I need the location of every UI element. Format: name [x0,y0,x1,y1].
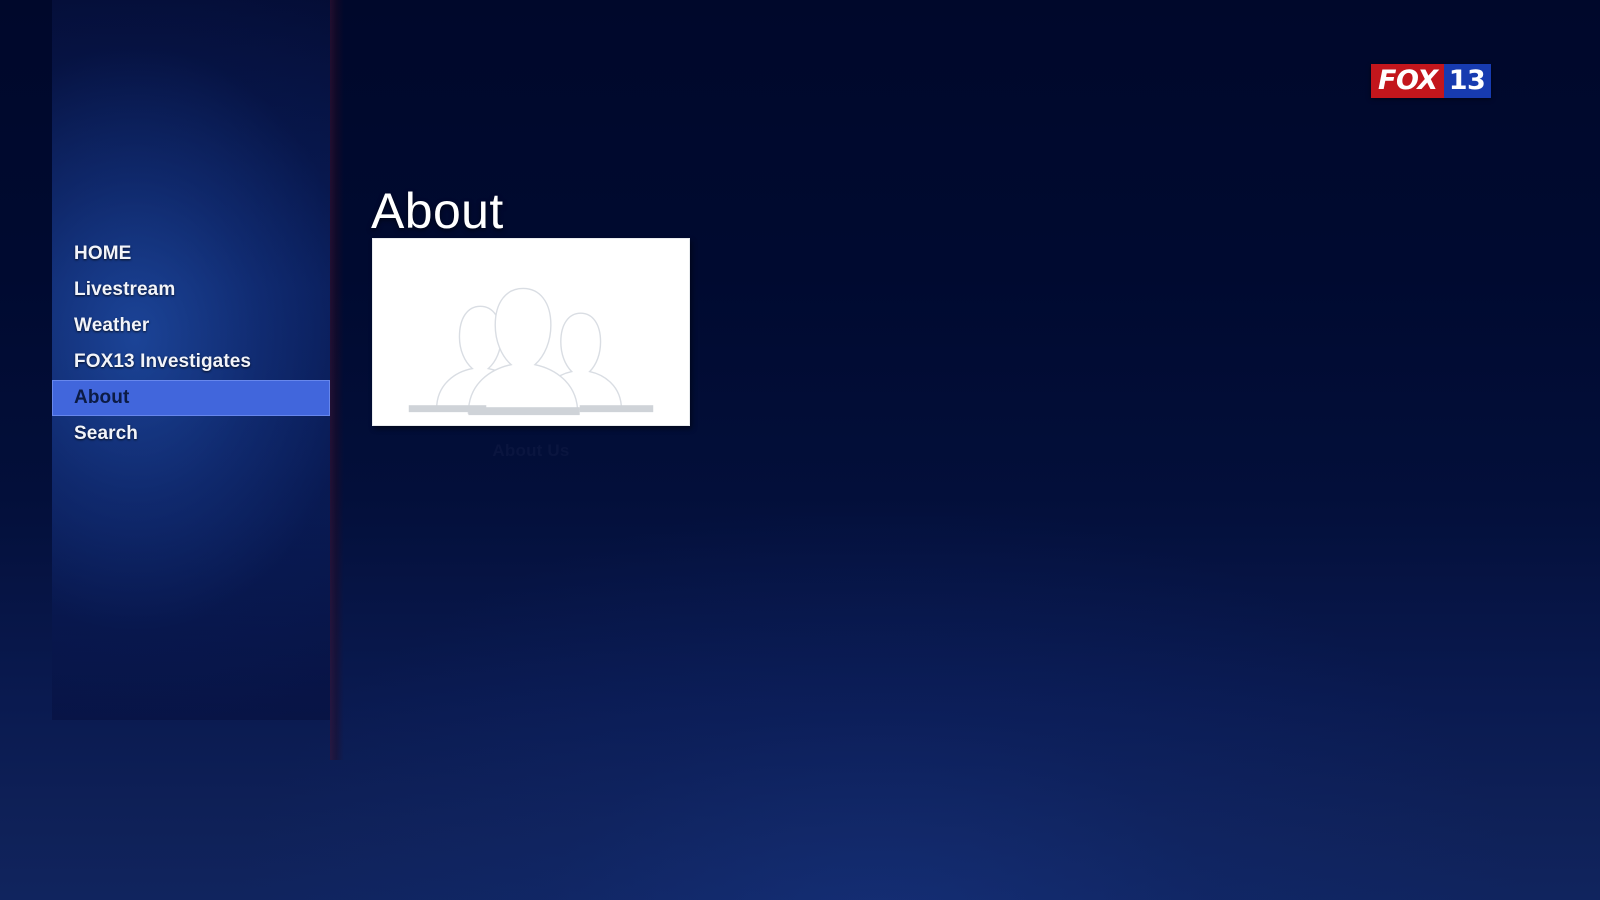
sidebar-item-label: Search [74,423,138,444]
fox13-logo: FOX 13 [1371,64,1491,98]
sidebar-item-label: About [74,387,129,408]
sidebar-item-fox13-investigates[interactable]: FOX13 Investigates [52,344,330,380]
sidebar-item-home[interactable]: HOME [52,236,330,272]
people-silhouette-icon [373,239,689,425]
sidebar-item-livestream[interactable]: Livestream [52,272,330,308]
sidebar-nav: HOME Livestream Weather FOX13 Investigat… [52,0,330,720]
sidebar-item-label: Livestream [74,279,175,300]
sidebar-item-about[interactable]: About [52,380,330,416]
app-root: HOME Livestream Weather FOX13 Investigat… [0,0,1600,900]
sidebar-item-label: FOX13 Investigates [74,351,251,372]
card-caption: About Us [372,441,690,461]
sidebar-menu: HOME Livestream Weather FOX13 Investigat… [52,236,330,452]
sidebar-item-label: HOME [74,243,131,264]
content-card-about-us[interactable]: About Us [372,238,690,461]
sidebar-item-search[interactable]: Search [52,416,330,452]
logo-13-text: 13 [1444,64,1492,98]
card-thumbnail[interactable] [372,238,690,426]
sidebar-item-label: Weather [74,315,149,336]
sidebar-item-weather[interactable]: Weather [52,308,330,344]
logo-fox-text: FOX [1371,64,1444,98]
page-title: About [371,182,504,240]
main-content: About [371,0,1600,900]
sidebar-divider [330,0,344,760]
